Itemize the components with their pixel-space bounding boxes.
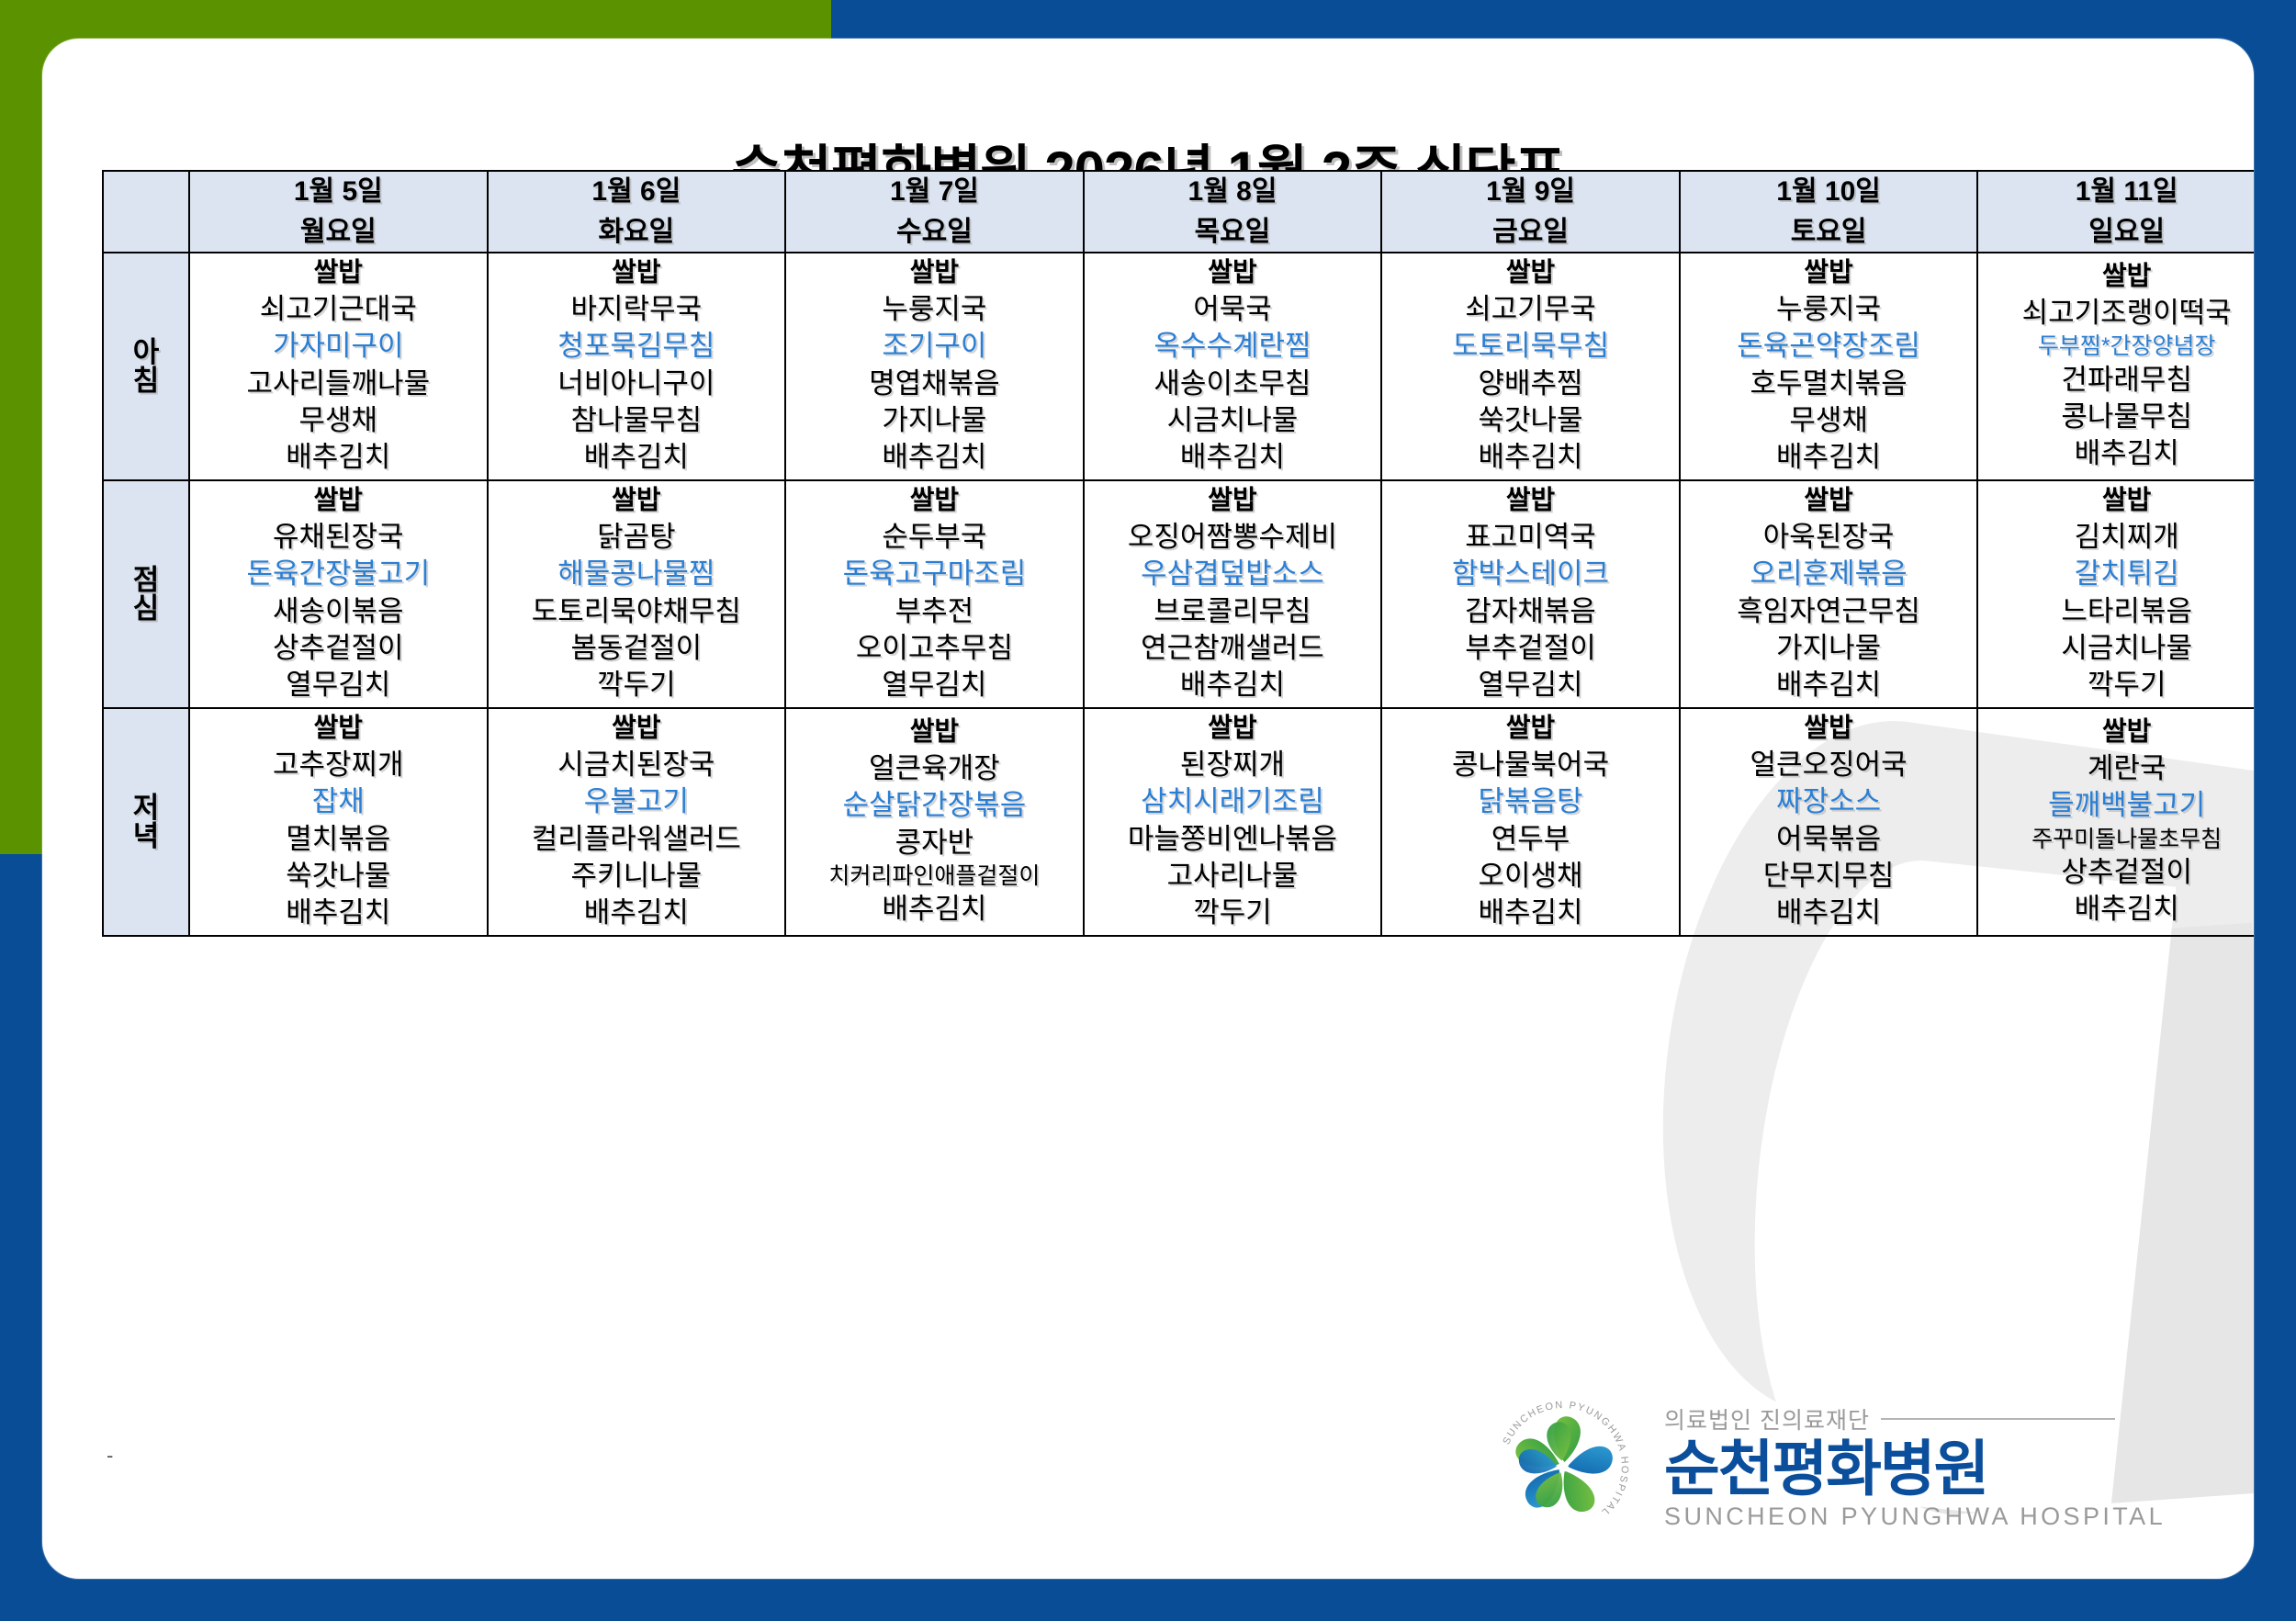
header-dow-3: 목요일 — [1085, 212, 1381, 253]
dish-item: 흑임자연근무침 — [1681, 593, 1977, 630]
dish-staple: 쌀밥 — [1085, 256, 1381, 291]
dish-item: 어묵볶음 — [1681, 821, 1977, 858]
dish-item: 삼치시래기조림 — [1085, 783, 1381, 820]
dish-staple: 쌀밥 — [1681, 712, 1977, 747]
meal-cell: 쌀밥쇠고기조랭이떡국두부찜*간장양념장건파래무침콩나물무침배추김치 — [1977, 253, 2254, 480]
dish-staple: 쌀밥 — [786, 484, 1083, 519]
meal-label-char: 침 — [133, 366, 160, 395]
meal-cell: 쌀밥닭곰탕해물콩나물찜도토리묵야채무침봄동겉절이깍두기 — [488, 480, 786, 708]
dish-item: 배추김치 — [1681, 895, 1977, 931]
dish-item: 아욱된장국 — [1681, 519, 1977, 556]
dish-item: 부추전 — [786, 593, 1083, 630]
meal-row-label-아침: 아침 — [103, 253, 189, 480]
dish-item: 청포묵김무침 — [489, 328, 785, 365]
meal-label-char: 심 — [133, 594, 160, 623]
header-dow-1: 화요일 — [489, 212, 785, 253]
dish-item: 닭볶음탕 — [1382, 783, 1679, 820]
dish-item: 돈육고구마조림 — [786, 556, 1083, 592]
dish-item: 계란국 — [1978, 750, 2254, 787]
dish-item: 가자미구이 — [190, 328, 487, 365]
dish-staple: 쌀밥 — [1382, 256, 1679, 291]
header-day-3: 1월 8일 목요일 — [1084, 171, 1382, 253]
dish-item: 닭곰탕 — [489, 519, 785, 556]
logo-text-block: 의료법인 진의료재단 순천평화병원 SUNCHEON PYUNGHWA HOSP… — [1664, 1402, 2166, 1531]
dish-item: 어묵국 — [1085, 291, 1381, 328]
dish-item: 콩나물무침 — [1978, 399, 2254, 435]
dish-item: 시금치나물 — [1085, 402, 1381, 439]
dish-item: 얼큰육개장 — [786, 750, 1083, 787]
header-dow-5: 토요일 — [1681, 212, 1977, 253]
meal-cell: 쌀밥어묵국옥수수계란찜새송이초무침시금치나물배추김치 — [1084, 253, 1382, 480]
dish-item: 콩자반 — [786, 825, 1083, 861]
dish-item: 주키니나물 — [489, 858, 785, 895]
dish-item: 상추겉절이 — [1978, 854, 2254, 891]
meal-cell: 쌀밥쇠고기근대국가자미구이고사리들깨나물무생채배추김치 — [189, 253, 488, 480]
dish-item: 갈치튀김 — [1978, 556, 2254, 592]
meal-cell: 쌀밥계란국들깨백불고기주꾸미돌나물초무침상추겉절이배추김치 — [1977, 708, 2254, 936]
dish-item: 배추김치 — [1382, 895, 1679, 931]
dish-item: 배추김치 — [1978, 435, 2254, 472]
dish-item: 배추김치 — [1681, 667, 1977, 704]
dish-item: 해물콩나물찜 — [489, 556, 785, 592]
dish-item: 연근참깨샐러드 — [1085, 630, 1381, 667]
table-body: 아침쌀밥쇠고기근대국가자미구이고사리들깨나물무생채배추김치쌀밥바지락무국청포묵김… — [103, 253, 2254, 936]
dish-staple: 쌀밥 — [1681, 484, 1977, 519]
dish-item: 짜장소스 — [1681, 783, 1977, 820]
dish-item: 옥수수계란찜 — [1085, 328, 1381, 365]
dish-item: 우불고기 — [489, 783, 785, 820]
dish-item: 콩나물북어국 — [1382, 747, 1679, 783]
dish-item: 배추김치 — [489, 895, 785, 931]
dish-staple: 쌀밥 — [1681, 256, 1977, 291]
stray-dash: - — [107, 1444, 113, 1468]
meal-cell: 쌀밥오징어짬뽕수제비우삼겹덮밥소스브로콜리무침연근참깨샐러드배추김치 — [1084, 480, 1382, 708]
logo-name-ko: 순천평화병원 — [1664, 1437, 2166, 1501]
dish-item: 가지나물 — [786, 402, 1083, 439]
meal-label-char: 저 — [133, 794, 160, 822]
header-date-4: 1월 9일 — [1382, 172, 1679, 212]
dish-item: 오징어짬뽕수제비 — [1085, 519, 1381, 556]
header-row: 1월 5일 월요일 1월 6일 화요일 1월 7일 수요일 1월 8일 목요일 — [103, 171, 2254, 253]
meal-cell: 쌀밥쇠고기무국도토리묵무침양배추찜쑥갓나물배추김치 — [1381, 253, 1680, 480]
meal-cell: 쌀밥누룽지국조기구이명엽채볶음가지나물배추김치 — [785, 253, 1084, 480]
dish-item: 쑥갓나물 — [1382, 402, 1679, 439]
dish-staple: 쌀밥 — [1382, 712, 1679, 747]
blue-top-band — [831, 0, 2296, 39]
dish-item: 누룽지국 — [786, 291, 1083, 328]
meal-cell: 쌀밥표고미역국함박스테이크감자채볶음부추겉절이열무김치 — [1381, 480, 1680, 708]
meal-row: 저녁쌀밥고추장찌개잡채멸치볶음쑥갓나물배추김치쌀밥시금치된장국우불고기컬리플라워… — [103, 708, 2254, 936]
dish-item: 감자채볶음 — [1382, 593, 1679, 630]
dish-item: 순두부국 — [786, 519, 1083, 556]
dish-item: 주꾸미돌나물초무침 — [1978, 825, 2254, 855]
header-day-1: 1월 6일 화요일 — [488, 171, 786, 253]
dish-item: 브로콜리무침 — [1085, 593, 1381, 630]
dish-staple: 쌀밥 — [1085, 484, 1381, 519]
dish-staple: 쌀밥 — [786, 715, 1083, 750]
slide-frame: 순천평화병원 2026년 1월 2주 식단표 - 1월 5일 월요일 1월 6일… — [0, 0, 2296, 1621]
dish-item: 조기구이 — [786, 328, 1083, 365]
logo-foundation-line: 의료법인 진의료재단 — [1664, 1402, 2166, 1435]
dish-staple: 쌀밥 — [786, 256, 1083, 291]
green-top-strip — [0, 0, 831, 39]
dish-item: 쇠고기무국 — [1382, 291, 1679, 328]
dish-staple: 쌀밥 — [190, 484, 487, 519]
dish-item: 연두부 — [1382, 821, 1679, 858]
dish-item: 바지락무국 — [489, 291, 785, 328]
dish-staple: 쌀밥 — [489, 256, 785, 291]
header-day-5: 1월 10일 토요일 — [1680, 171, 1978, 253]
meal-row-label-저녁: 저녁 — [103, 708, 189, 936]
dish-item: 고사리들깨나물 — [190, 366, 487, 402]
hospital-logo: SUNCHEON PYUNGHWA HOSPITAL 의료법인 진의료재단 순천… — [1486, 1390, 2166, 1544]
dish-item: 상추겉절이 — [190, 630, 487, 667]
header-dow-0: 월요일 — [190, 212, 487, 253]
dish-item: 배추김치 — [489, 439, 785, 476]
logo-rule — [1881, 1418, 2115, 1420]
dish-item: 배추김치 — [786, 439, 1083, 476]
meal-cell: 쌀밥고추장찌개잡채멸치볶음쑥갓나물배추김치 — [189, 708, 488, 936]
dish-item: 도토리묵야채무침 — [489, 593, 785, 630]
dish-item: 오이생채 — [1382, 858, 1679, 895]
dish-item: 들깨백불고기 — [1978, 787, 2254, 824]
dish-item: 도토리묵무침 — [1382, 328, 1679, 365]
dish-item: 함박스테이크 — [1382, 556, 1679, 592]
dish-staple: 쌀밥 — [190, 256, 487, 291]
meal-cell: 쌀밥시금치된장국우불고기컬리플라워샐러드주키니나물배추김치 — [488, 708, 786, 936]
dish-item: 호두멸치볶음 — [1681, 366, 1977, 402]
meal-cell: 쌀밥콩나물북어국닭볶음탕연두부오이생채배추김치 — [1381, 708, 1680, 936]
dish-item: 배추김치 — [786, 891, 1083, 928]
dish-item: 배추김치 — [190, 439, 487, 476]
header-day-0: 1월 5일 월요일 — [189, 171, 488, 253]
dish-item: 열무김치 — [1382, 667, 1679, 704]
header-date-0: 1월 5일 — [190, 172, 487, 212]
meal-row: 아침쌀밥쇠고기근대국가자미구이고사리들깨나물무생채배추김치쌀밥바지락무국청포묵김… — [103, 253, 2254, 480]
header-date-3: 1월 8일 — [1085, 172, 1381, 212]
dish-item: 쇠고기근대국 — [190, 291, 487, 328]
meal-label-char: 점 — [133, 566, 160, 594]
dish-staple: 쌀밥 — [489, 712, 785, 747]
dish-staple: 쌀밥 — [190, 712, 487, 747]
dish-item: 깍두기 — [1978, 667, 2254, 704]
dish-item: 단무지무침 — [1681, 858, 1977, 895]
hospital-logo-mark-icon: SUNCHEON PYUNGHWA HOSPITAL — [1486, 1390, 1640, 1544]
meal-cell: 쌀밥유채된장국돈육간장불고기새송이볶음상추겉절이열무김치 — [189, 480, 488, 708]
dish-item: 얼큰오징어국 — [1681, 747, 1977, 783]
dish-item: 무생채 — [1681, 402, 1977, 439]
table-header: 1월 5일 월요일 1월 6일 화요일 1월 7일 수요일 1월 8일 목요일 — [103, 171, 2254, 253]
dish-staple: 쌀밥 — [1978, 484, 2254, 519]
dish-item: 돈육간장불고기 — [190, 556, 487, 592]
dish-item: 오이고추무침 — [786, 630, 1083, 667]
dish-item: 양배추찜 — [1382, 366, 1679, 402]
dish-item: 치커리파인애플겉절이 — [786, 861, 1083, 892]
meal-label-char: 녁 — [133, 822, 160, 850]
header-day-4: 1월 9일 금요일 — [1381, 171, 1680, 253]
dish-item: 새송이볶음 — [190, 593, 487, 630]
dish-item: 두부찜*간장양념장 — [1978, 332, 2254, 362]
weekly-menu-table: 1월 5일 월요일 1월 6일 화요일 1월 7일 수요일 1월 8일 목요일 — [102, 170, 2254, 937]
dish-item: 깍두기 — [489, 667, 785, 704]
dish-item: 배추김치 — [1978, 891, 2254, 928]
dish-item: 봄동겉절이 — [489, 630, 785, 667]
header-date-1: 1월 6일 — [489, 172, 785, 212]
header-dow-2: 수요일 — [786, 212, 1083, 253]
logo-foundation-text: 의료법인 진의료재단 — [1664, 1402, 1870, 1435]
header-corner-cell — [103, 171, 189, 253]
dish-item: 가지나물 — [1681, 630, 1977, 667]
dish-item: 돈육곤약장조림 — [1681, 328, 1977, 365]
dish-staple: 쌀밥 — [489, 484, 785, 519]
dish-item: 순살닭간장볶음 — [786, 787, 1083, 824]
meal-cell: 쌀밥김치찌개갈치튀김느타리볶음시금치나물깍두기 — [1977, 480, 2254, 708]
dish-item: 누룽지국 — [1681, 291, 1977, 328]
header-dow-6: 일요일 — [1978, 212, 2254, 253]
dish-item: 오리훈제볶음 — [1681, 556, 1977, 592]
dish-item: 멸치볶음 — [190, 821, 487, 858]
dish-item: 열무김치 — [786, 667, 1083, 704]
dish-staple: 쌀밥 — [1978, 260, 2254, 295]
dish-item: 쇠고기조랭이떡국 — [1978, 295, 2254, 332]
header-date-2: 1월 7일 — [786, 172, 1083, 212]
logo-name-en: SUNCHEON PYUNGHWA HOSPITAL — [1664, 1503, 2166, 1531]
header-day-2: 1월 7일 수요일 — [785, 171, 1084, 253]
dish-item: 우삼겹덮밥소스 — [1085, 556, 1381, 592]
meal-row-label-점심: 점심 — [103, 480, 189, 708]
dish-item: 부추겉절이 — [1382, 630, 1679, 667]
dish-staple: 쌀밥 — [1382, 484, 1679, 519]
meal-cell: 쌀밥얼큰육개장순살닭간장볶음콩자반치커리파인애플겉절이배추김치 — [785, 708, 1084, 936]
dish-item: 배추김치 — [1085, 667, 1381, 704]
dish-item: 컬리플라워샐러드 — [489, 821, 785, 858]
dish-item: 무생채 — [190, 402, 487, 439]
dish-item: 건파래무침 — [1978, 362, 2254, 399]
dish-item: 시금치된장국 — [489, 747, 785, 783]
dish-item: 깍두기 — [1085, 895, 1381, 931]
header-dow-4: 금요일 — [1382, 212, 1679, 253]
dish-item: 유채된장국 — [190, 519, 487, 556]
dish-item: 배추김치 — [1382, 439, 1679, 476]
dish-item: 된장찌개 — [1085, 747, 1381, 783]
header-day-6: 1월 11일 일요일 — [1977, 171, 2254, 253]
meal-cell: 쌀밥된장찌개삼치시래기조림마늘쫑비엔나볶음고사리나물깍두기 — [1084, 708, 1382, 936]
dish-staple: 쌀밥 — [1978, 715, 2254, 750]
dish-staple: 쌀밥 — [1085, 712, 1381, 747]
dish-item: 느타리볶음 — [1978, 593, 2254, 630]
dish-item: 배추김치 — [1085, 439, 1381, 476]
meal-cell: 쌀밥아욱된장국오리훈제볶음흑임자연근무침가지나물배추김치 — [1680, 480, 1978, 708]
dish-item: 배추김치 — [1681, 439, 1977, 476]
dish-item: 시금치나물 — [1978, 630, 2254, 667]
dish-item: 김치찌개 — [1978, 519, 2254, 556]
dish-item: 쑥갓나물 — [190, 858, 487, 895]
dish-item: 새송이초무침 — [1085, 366, 1381, 402]
meal-cell: 쌀밥얼큰오징어국짜장소스어묵볶음단무지무침배추김치 — [1680, 708, 1978, 936]
dish-item: 마늘쫑비엔나볶음 — [1085, 821, 1381, 858]
dish-item: 잡채 — [190, 783, 487, 820]
dish-item: 고추장찌개 — [190, 747, 487, 783]
content-card: 순천평화병원 2026년 1월 2주 식단표 - 1월 5일 월요일 1월 6일… — [42, 39, 2254, 1579]
meal-row: 점심쌀밥유채된장국돈육간장불고기새송이볶음상추겉절이열무김치쌀밥닭곰탕해물콩나물… — [103, 480, 2254, 708]
header-date-6: 1월 11일 — [1978, 172, 2254, 212]
meal-cell: 쌀밥순두부국돈육고구마조림부추전오이고추무침열무김치 — [785, 480, 1084, 708]
meal-cell: 쌀밥누룽지국돈육곤약장조림호두멸치볶음무생채배추김치 — [1680, 253, 1978, 480]
meal-label-char: 아 — [133, 338, 160, 366]
dish-item: 열무김치 — [190, 667, 487, 704]
dish-item: 표고미역국 — [1382, 519, 1679, 556]
dish-item: 배추김치 — [190, 895, 487, 931]
dish-item: 명엽채볶음 — [786, 366, 1083, 402]
header-date-5: 1월 10일 — [1681, 172, 1977, 212]
dish-item: 너비아니구이 — [489, 366, 785, 402]
meal-cell: 쌀밥바지락무국청포묵김무침너비아니구이참나물무침배추김치 — [488, 253, 786, 480]
dish-item: 고사리나물 — [1085, 858, 1381, 895]
dish-item: 참나물무침 — [489, 402, 785, 439]
